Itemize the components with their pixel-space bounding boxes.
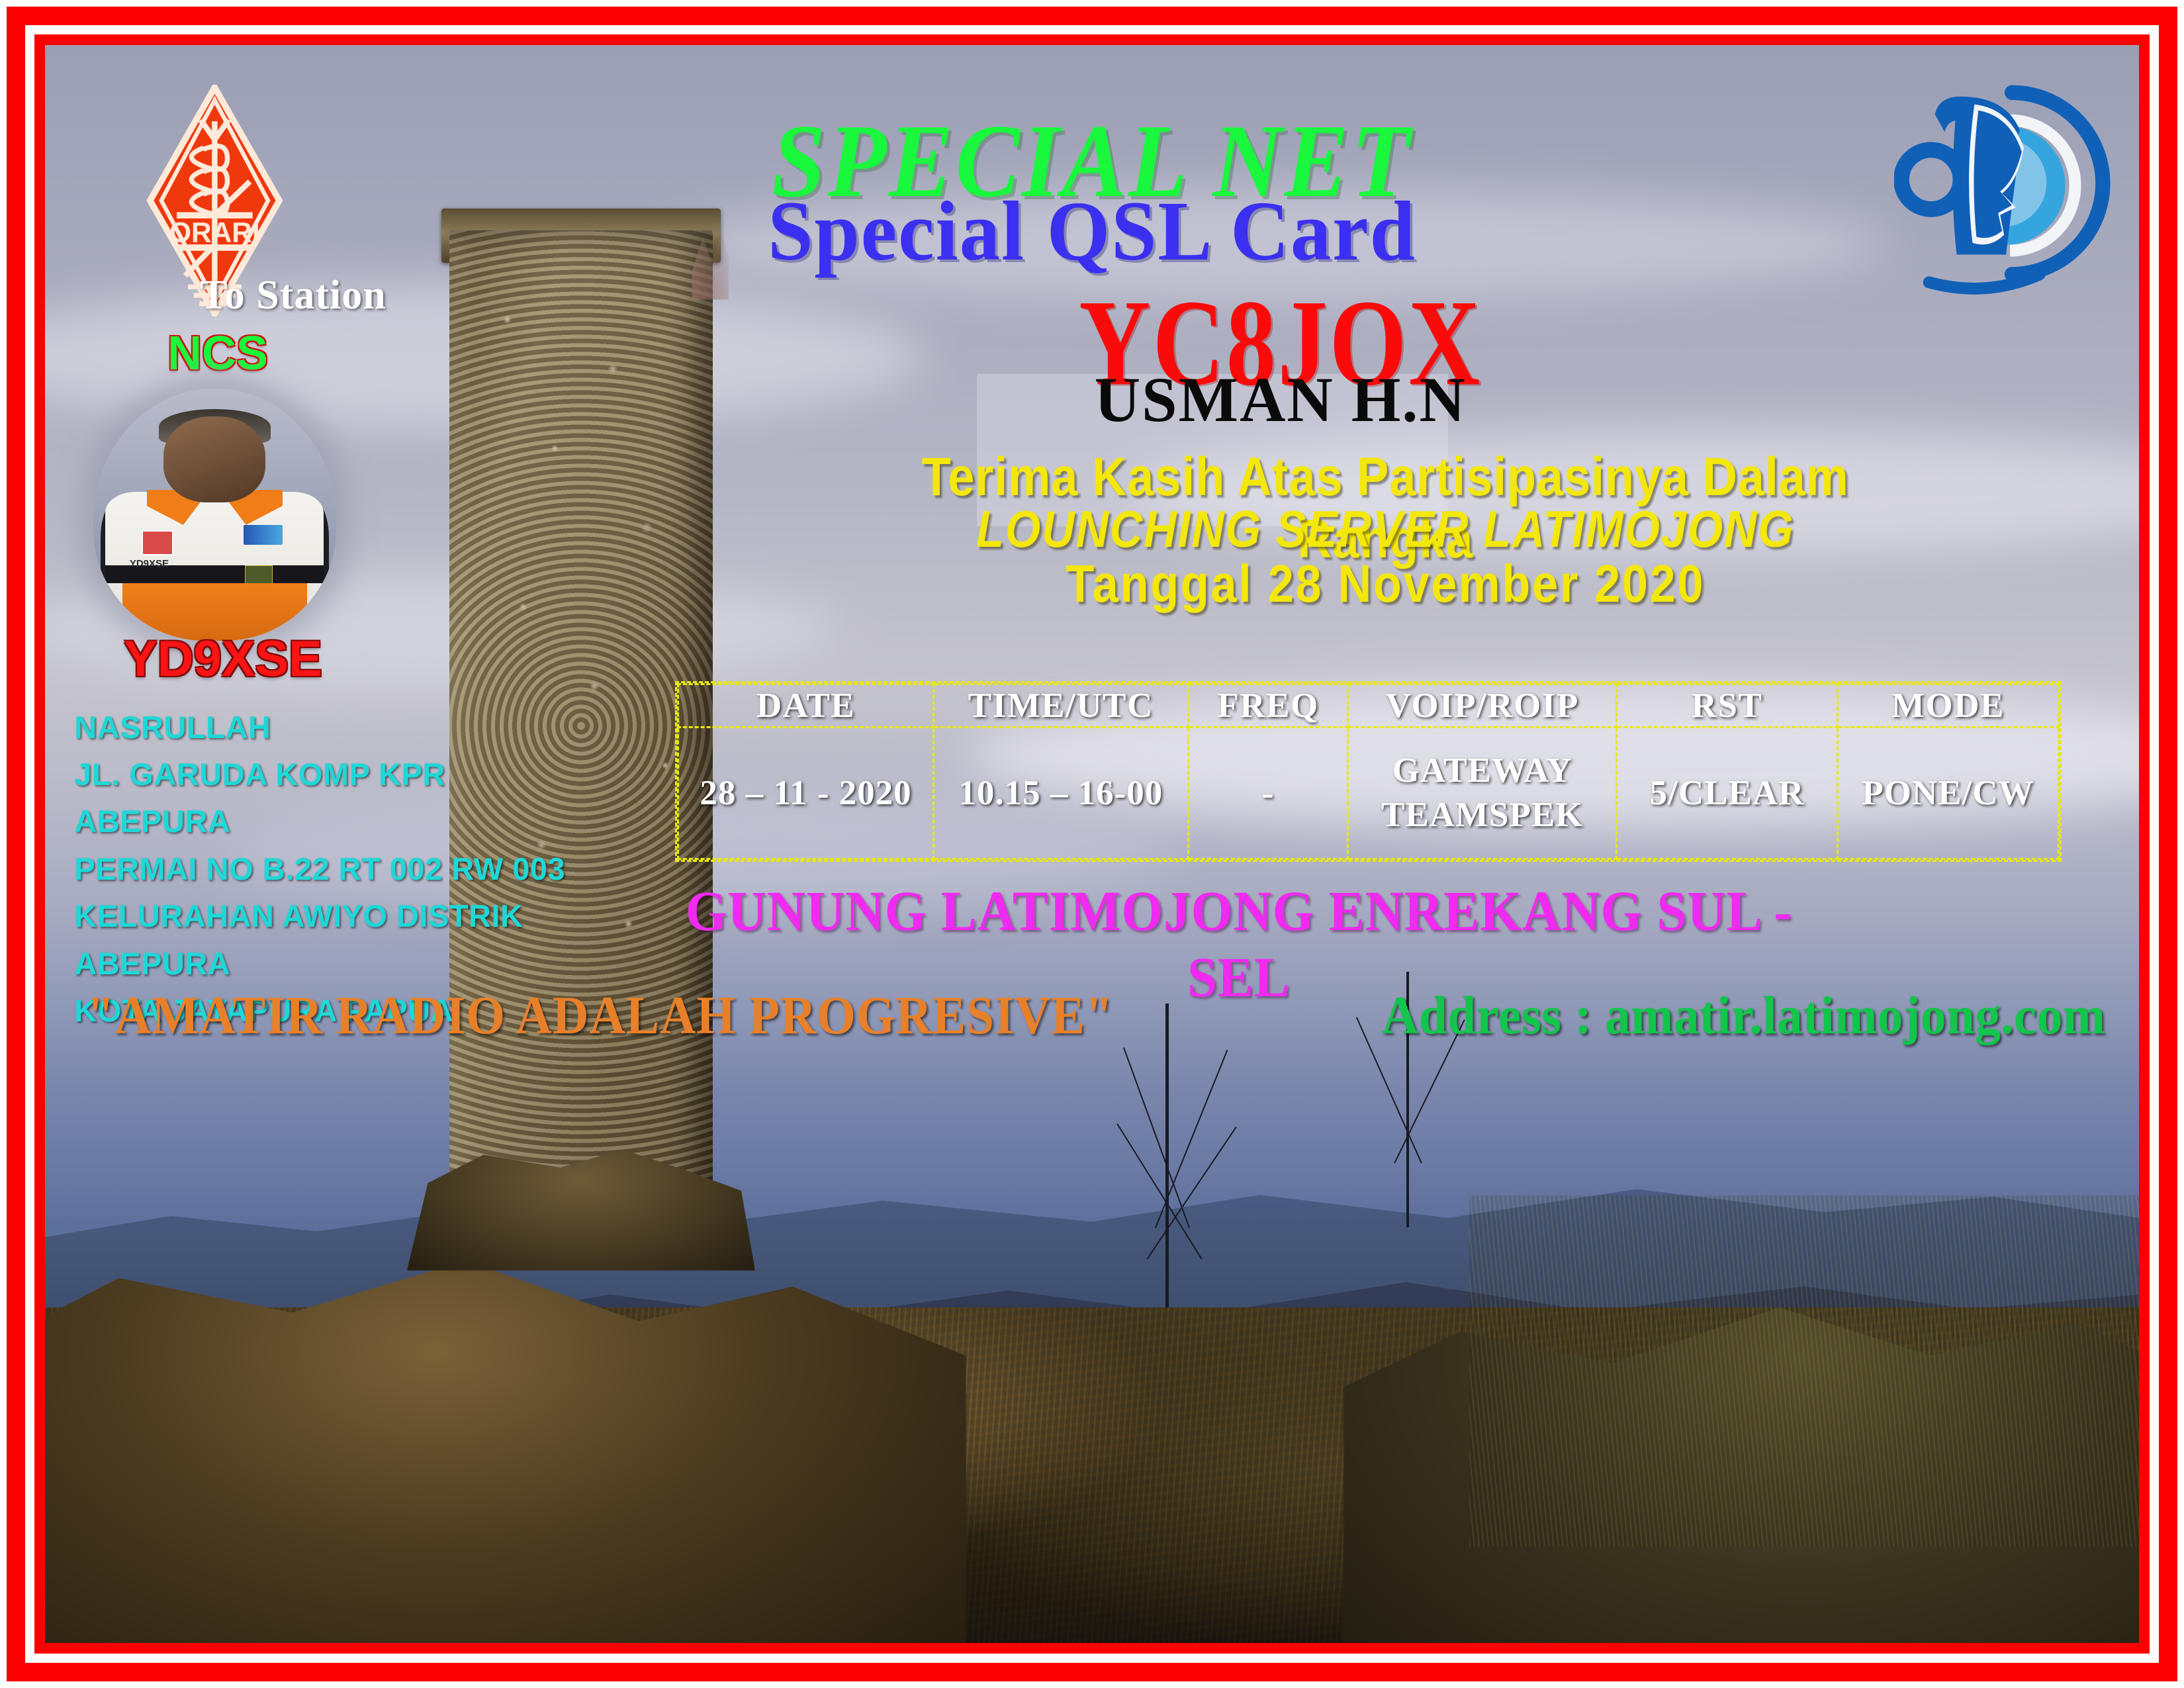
cell-freq: - bbox=[1188, 727, 1347, 859]
ncs-operator-photo: YD9XSE bbox=[93, 389, 336, 641]
footer-slogan: "AMATIR RADIO ADALAH PROGRESIVE" bbox=[87, 984, 1114, 1047]
photo-face bbox=[163, 416, 265, 502]
card-content-layer: ORARI bbox=[45, 45, 2139, 1643]
to-station-label: To Station bbox=[200, 272, 387, 319]
operator-name: USMAN H.N bbox=[925, 368, 1637, 432]
photo-embroidered-callsign: YD9XSE bbox=[130, 558, 169, 569]
cell-voip-roip: GATEWAY TEAMSPEK bbox=[1348, 727, 1617, 859]
page-subtitle-qsl-card: Special QSL Card bbox=[87, 189, 2097, 273]
table-header-row: DATE TIME/UTC FREQ VOIP/ROIP RST MODE bbox=[678, 684, 2059, 727]
photo-chest-badge bbox=[244, 525, 283, 545]
table-row: 28 – 11 - 2020 10.15 – 16-00 - GATEWAY T… bbox=[678, 727, 2059, 859]
column-header-rst: RST bbox=[1617, 684, 1838, 727]
photo-shoulder-patch bbox=[142, 530, 173, 555]
address-line: ABEPURA bbox=[74, 940, 639, 987]
ncs-label: NCS bbox=[129, 326, 307, 381]
column-header-time: TIME/UTC bbox=[933, 684, 1188, 727]
address-line: NASRULLAH bbox=[74, 704, 639, 751]
ncs-callsign: YD9XSE bbox=[87, 630, 359, 688]
address-line: JL. GARUDA KOMP KPR bbox=[74, 751, 639, 798]
card-photo-stage: ORARI bbox=[45, 45, 2139, 1643]
column-header-mode: MODE bbox=[1837, 684, 2058, 727]
column-header-freq: FREQ bbox=[1188, 684, 1347, 727]
cell-rst: 5/CLEAR bbox=[1617, 727, 1838, 859]
cell-time: 10.15 – 16-00 bbox=[933, 727, 1188, 859]
address-line: ABEPURA bbox=[74, 798, 639, 845]
address-line: KELURAHAN AWIYO DISTRIK bbox=[74, 892, 639, 939]
cell-voip-line1: GATEWAY bbox=[1349, 749, 1615, 793]
cell-voip-line2: TEAMSPEK bbox=[1349, 793, 1615, 837]
column-header-voip-roip: VOIP/ROIP bbox=[1348, 684, 1617, 727]
cell-mode: PONE/CW bbox=[1837, 727, 2058, 859]
footer-web-address: Address : amatir.latimojong.com bbox=[1382, 984, 2106, 1047]
qsl-card: ORARI bbox=[0, 0, 2184, 1688]
cell-date: 28 – 11 - 2020 bbox=[678, 727, 933, 859]
qso-details-table: DATE TIME/UTC FREQ VOIP/ROIP RST MODE 28… bbox=[675, 681, 2062, 862]
column-header-date: DATE bbox=[678, 684, 933, 727]
event-title-line: LOUNCHING SERVER LATIMOJONG bbox=[833, 499, 1938, 559]
address-line: PERMAI NO B.22 RT 002 RW 003 bbox=[74, 845, 639, 892]
event-date-line: Tanggal 28 November 2020 bbox=[833, 553, 1938, 614]
